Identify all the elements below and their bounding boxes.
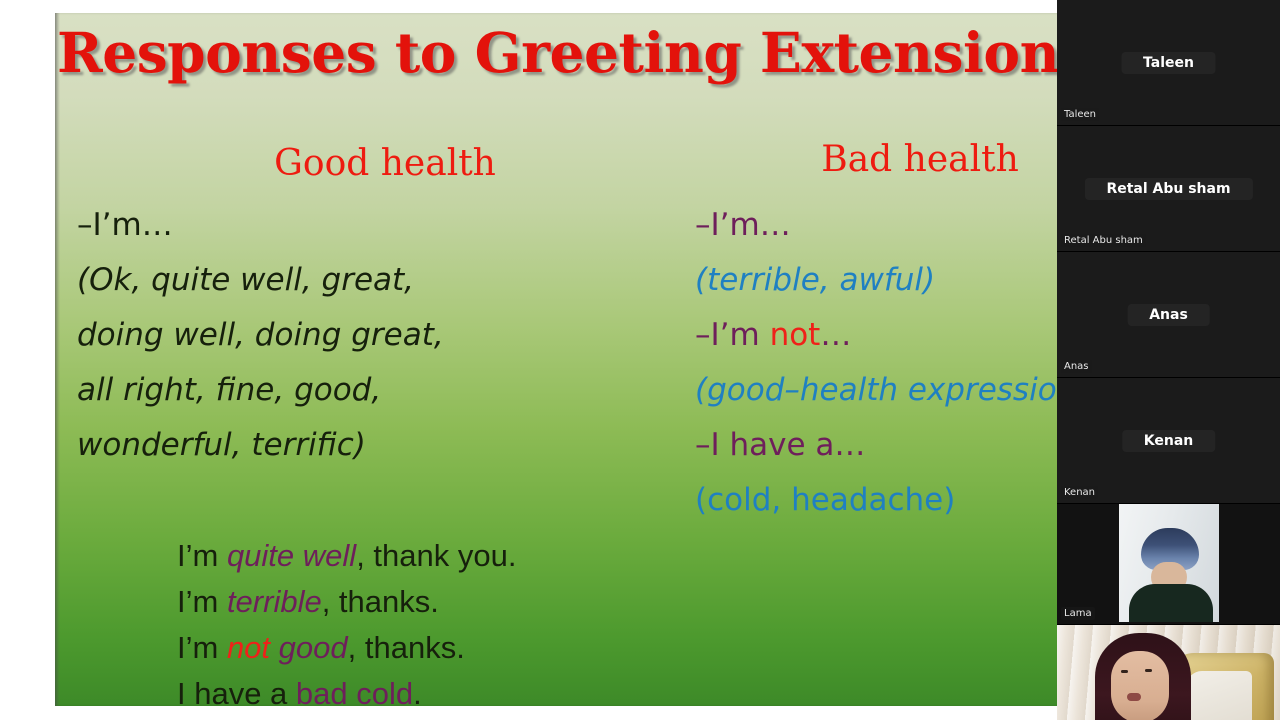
slide-text-line: –I’m… — [695, 198, 1057, 253]
slide-text-run: terrible — [227, 584, 322, 619]
slide-text-run — [270, 630, 279, 665]
slide-text-run: (good–health expressions) — [695, 372, 1057, 408]
slide-text-run: quite well — [227, 538, 356, 573]
slide-text-run: I’m — [177, 584, 227, 619]
slide-text-run: not — [227, 630, 270, 665]
slide-title: Responses to Greeting Extensions — [57, 21, 1057, 85]
slide-text-run: wonderful, terrific) — [77, 427, 366, 463]
slide-text-run: (terrible, awful) — [695, 262, 935, 298]
participant-corner-label: Lama — [1061, 607, 1095, 620]
slide-text-run: (Ok, quite well, great, — [77, 262, 414, 298]
participant-tile-kenan[interactable]: Kenan Kenan — [1057, 378, 1280, 504]
slide-text-run: (cold, headache) — [695, 482, 955, 518]
shared-screen-stage: Responses to Greeting Extensions Good he… — [0, 0, 1057, 720]
participant-avatar-name: Kenan — [1122, 430, 1215, 452]
chair-cushion — [1186, 671, 1252, 720]
slide-text-run: I’m — [177, 538, 227, 573]
slide-text-run: doing well, doing great, — [77, 317, 444, 353]
column-heading-bad-health: Bad health — [755, 139, 1057, 181]
participant-corner-label: Kenan — [1061, 486, 1098, 499]
participant-avatar-name: Anas — [1127, 304, 1210, 326]
slide-text-run: , thanks. — [348, 630, 465, 665]
slide-text-run: all right, fine, good, — [77, 372, 381, 408]
participant-tile-retal-abu-sham[interactable]: Retal Abu sham Retal Abu sham — [1057, 126, 1280, 252]
slide-text-line: I’m not good, thanks. — [177, 625, 1057, 671]
slide-text-line: wonderful, terrific) — [77, 418, 697, 473]
slide-text-line: (Ok, quite well, great, — [77, 253, 697, 308]
participant-video-active-speaker — [1057, 625, 1280, 720]
slide-text-run: not — [770, 317, 821, 353]
slide-text-line: (terrible, awful) — [695, 253, 1057, 308]
slide-text-line: I’m terrible, thanks. — [177, 579, 1057, 625]
slide-text-line: –I’m… — [77, 198, 697, 253]
participant-avatar-name: Taleen — [1121, 52, 1216, 74]
participant-video-lama — [1119, 504, 1219, 622]
presentation-slide: Responses to Greeting Extensions Good he… — [55, 13, 1057, 706]
slide-text-line: doing well, doing great, — [77, 308, 697, 363]
participant-corner-label: Retal Abu sham — [1061, 234, 1146, 247]
slide-text-line: (good–health expressions) — [695, 363, 1057, 418]
bad-health-lines: –I’m…(terrible, awful)–I’m not…(good–hea… — [695, 198, 1057, 528]
slide-text-run: bad cold — [296, 676, 413, 706]
slide-text-run: good — [279, 630, 348, 665]
zoom-meeting-screen-share: Responses to Greeting Extensions Good he… — [0, 0, 1280, 720]
participant-filmstrip[interactable]: Taleen Taleen Retal Abu sham Retal Abu s… — [1057, 0, 1280, 720]
slide-text-run: –I’m… — [695, 207, 791, 243]
person-mouth — [1127, 693, 1141, 701]
example-sentences: I’m quite well, thank you.I’m terrible, … — [177, 533, 1057, 706]
participant-tile-lama[interactable]: Lama — [1057, 504, 1280, 625]
person-eye-left — [1121, 670, 1128, 673]
participant-tile-active-speaker[interactable] — [1057, 625, 1280, 720]
participant-tile-anas[interactable]: Anas Anas — [1057, 252, 1280, 378]
slide-text-line: –I’m not… — [695, 308, 1057, 363]
slide-text-line: (cold, headache) — [695, 473, 1057, 528]
slide-text-run: , thanks. — [322, 584, 439, 619]
slide-text-line: –I have a… — [695, 418, 1057, 473]
participant-avatar-name: Retal Abu sham — [1084, 178, 1252, 200]
slide-text-run: –I’m… — [77, 207, 173, 243]
slide-text-run: . — [413, 676, 422, 706]
slide-text-run: I have a — [177, 676, 296, 706]
participant-corner-label: Taleen — [1061, 108, 1099, 121]
column-heading-good-health: Good health — [175, 143, 595, 185]
slide-text-run: … — [820, 317, 851, 353]
slide-text-line: all right, fine, good, — [77, 363, 697, 418]
slide-text-run: –I have a… — [695, 427, 865, 463]
person-torso — [1129, 584, 1213, 622]
person-face — [1111, 651, 1169, 720]
slide-text-line: I have a bad cold. — [177, 671, 1057, 706]
participant-corner-label: Anas — [1061, 360, 1092, 373]
slide-text-line: I’m quite well, thank you. — [177, 533, 1057, 579]
slide-text-run: , thank you. — [356, 538, 516, 573]
good-health-lines: –I’m…(Ok, quite well, great,doing well, … — [77, 198, 697, 473]
person-eye-right — [1145, 669, 1152, 672]
slide-text-run: I’m — [177, 630, 227, 665]
participant-tile-taleen[interactable]: Taleen Taleen — [1057, 0, 1280, 126]
slide-text-run: –I’m — [695, 317, 770, 353]
